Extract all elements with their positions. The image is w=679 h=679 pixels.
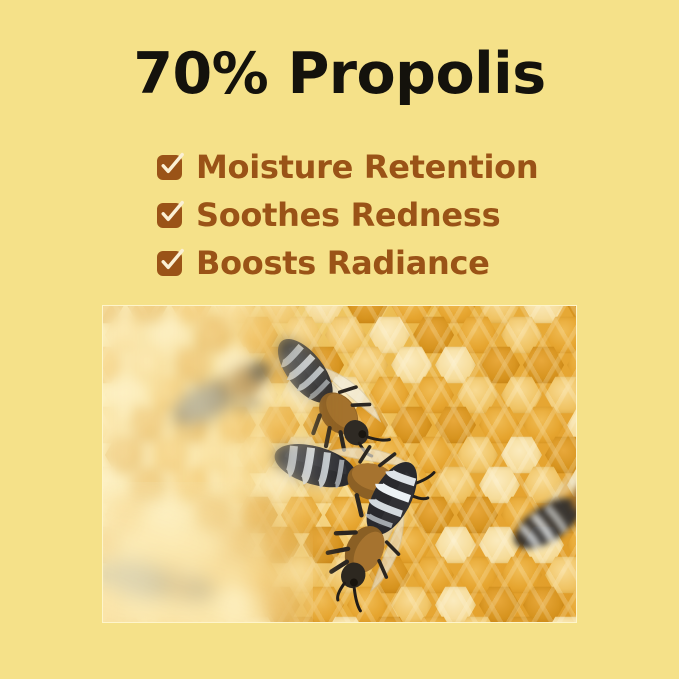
checkbox-check-icon — [157, 203, 182, 228]
benefit-label: Boosts Radiance — [196, 247, 490, 279]
depth-of-field-bottom — [103, 482, 313, 622]
checkbox-check-icon — [157, 251, 182, 276]
benefits-list: Moisture Retention Soothes Redness Boost… — [157, 143, 617, 287]
benefit-label: Moisture Retention — [196, 151, 538, 183]
list-item: Moisture Retention — [157, 143, 617, 191]
checkbox-check-icon — [157, 155, 182, 180]
list-item: Boosts Radiance — [157, 239, 617, 287]
benefit-label: Soothes Redness — [196, 199, 500, 231]
page-title: 70% Propolis — [0, 44, 679, 106]
propolis-poster: 70% Propolis Moisture Retention Soothes … — [0, 0, 679, 679]
list-item: Soothes Redness — [157, 191, 617, 239]
photo-inner — [103, 306, 576, 622]
honeycomb-photo — [103, 306, 576, 622]
